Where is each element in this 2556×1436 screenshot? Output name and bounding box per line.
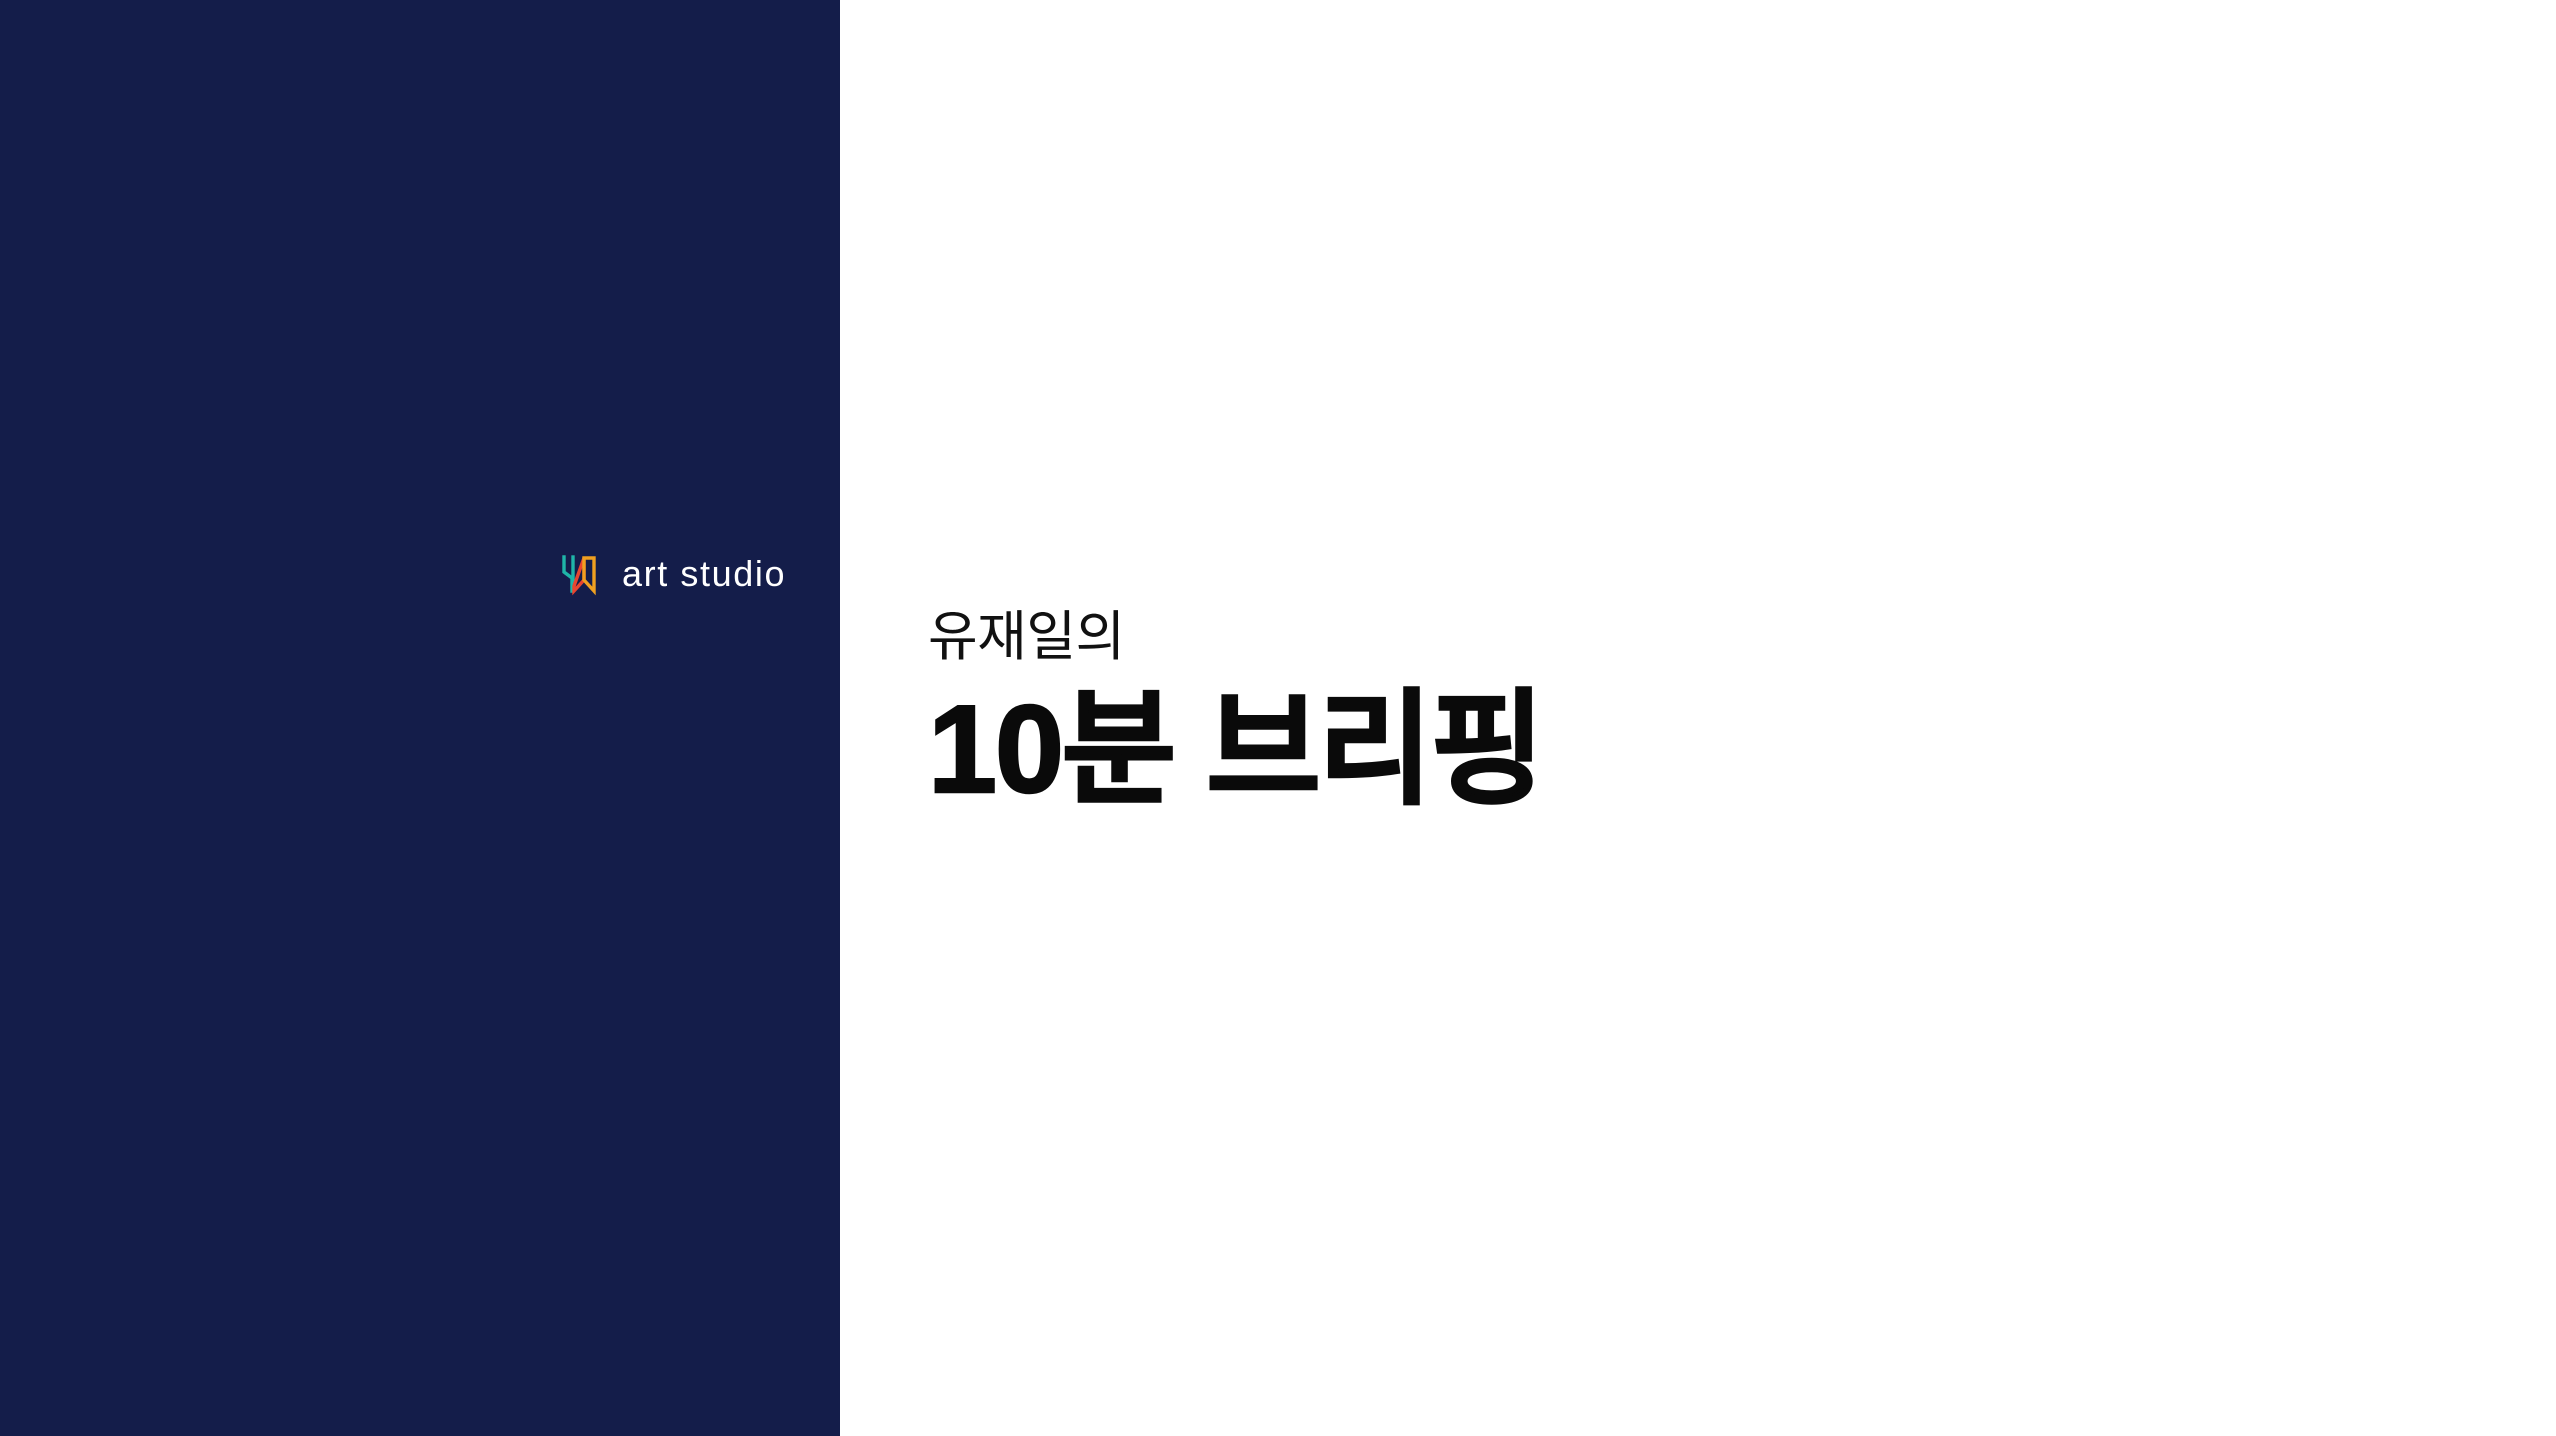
page-title: 10분 브리핑 bbox=[928, 686, 2428, 815]
brand-wordmark: art studio bbox=[622, 556, 786, 592]
title-slide: art studio 유재일의 10분 브리핑 bbox=[0, 0, 2556, 1436]
art-studio-logo-mark bbox=[560, 550, 606, 596]
title-eyebrow: 유재일의 bbox=[928, 608, 2428, 666]
brand-lockup: art studio bbox=[560, 550, 786, 596]
title-block: 유재일의 10분 브리핑 bbox=[928, 608, 2428, 815]
left-navy-panel: art studio bbox=[0, 0, 840, 1436]
